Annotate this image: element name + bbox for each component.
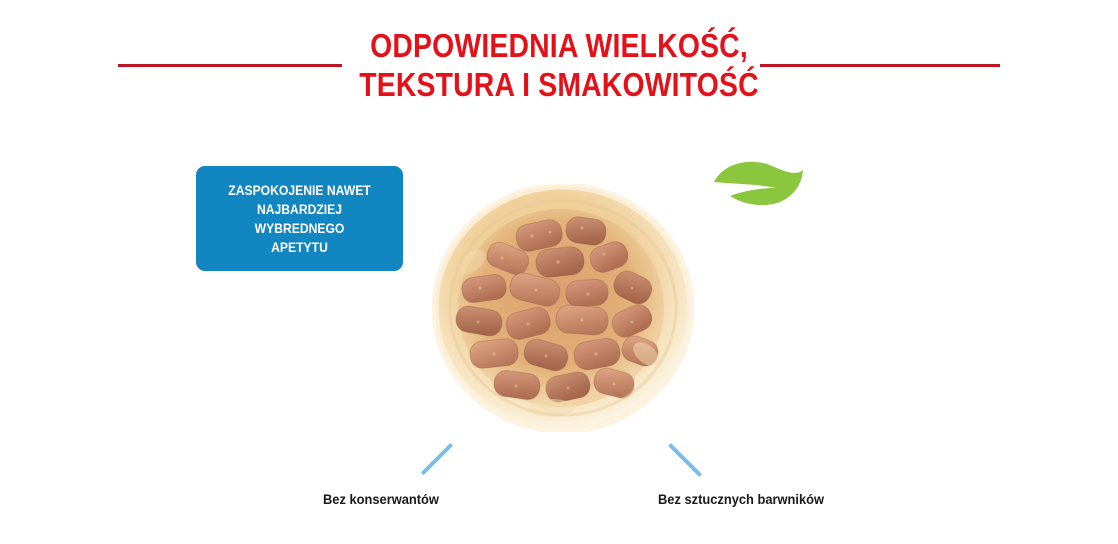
label-no-artificial-colours: Bez sztucznych barwników xyxy=(658,490,824,508)
label-no-preservatives: Bez konserwantów xyxy=(323,490,439,508)
appetite-callout-text: ZASPOKOJENIE NAWET NAJBARDZIEJ WYBREDNEG… xyxy=(215,181,383,257)
pet-food-bowl-photo xyxy=(432,184,694,432)
pointer-line-no-artificial-colours xyxy=(668,443,702,477)
page-title: ODPOWIEDNIA WIELKOŚĆ, TEKSTURA I SMAKOWI… xyxy=(279,26,839,104)
leaf-icon xyxy=(710,160,804,206)
pointer-line-no-preservatives xyxy=(421,443,454,476)
page-title-line-2: TEKSTURA I SMAKOWITOŚĆ xyxy=(318,65,800,104)
header: ODPOWIEDNIA WIELKOŚĆ, TEKSTURA I SMAKOWI… xyxy=(0,0,1118,130)
page-title-line-1: ODPOWIEDNIA WIELKOŚĆ, xyxy=(318,26,800,65)
appetite-callout-box: ZASPOKOJENIE NAWET NAJBARDZIEJ WYBREDNEG… xyxy=(196,166,403,271)
